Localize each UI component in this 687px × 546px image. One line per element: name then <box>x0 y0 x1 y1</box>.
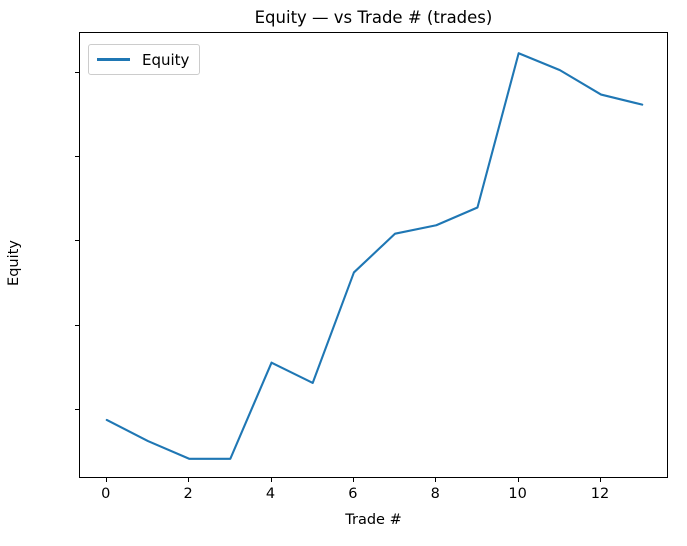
legend-color-swatch-equity <box>97 58 130 60</box>
figure-canvas: Equity — vs Trade # (trades) 20021022023… <box>0 0 687 546</box>
legend-label-equity: Equity <box>142 51 189 69</box>
y-tick-mark <box>75 156 79 157</box>
y-tick-mark <box>75 72 79 73</box>
x-tick-mark <box>188 478 189 482</box>
x-tick-mark <box>435 478 436 482</box>
x-tick-mark <box>106 478 107 482</box>
x-tick-label: 2 <box>163 486 213 502</box>
x-tick-label: 12 <box>575 486 625 502</box>
x-tick-label: 0 <box>81 486 131 502</box>
x-tick-label: 4 <box>246 486 296 502</box>
y-axis-label: Equity <box>6 223 22 303</box>
y-tick-mark <box>75 240 79 241</box>
chart-legend[interactable]: Equity <box>88 44 200 75</box>
x-tick-label: 6 <box>328 486 378 502</box>
chart-title: Equity — vs Trade # (trades) <box>79 8 668 28</box>
x-tick-label: 10 <box>493 486 543 502</box>
x-axis-label: Trade # <box>79 512 668 528</box>
plot-area <box>79 32 668 478</box>
y-tick-mark <box>75 409 79 410</box>
x-tick-mark <box>271 478 272 482</box>
y-tick-mark <box>75 325 79 326</box>
data-line-series <box>80 33 669 479</box>
series-line-equity <box>107 53 642 459</box>
x-tick-label: 8 <box>410 486 460 502</box>
x-tick-mark <box>600 478 601 482</box>
x-tick-mark <box>353 478 354 482</box>
x-tick-mark <box>518 478 519 482</box>
